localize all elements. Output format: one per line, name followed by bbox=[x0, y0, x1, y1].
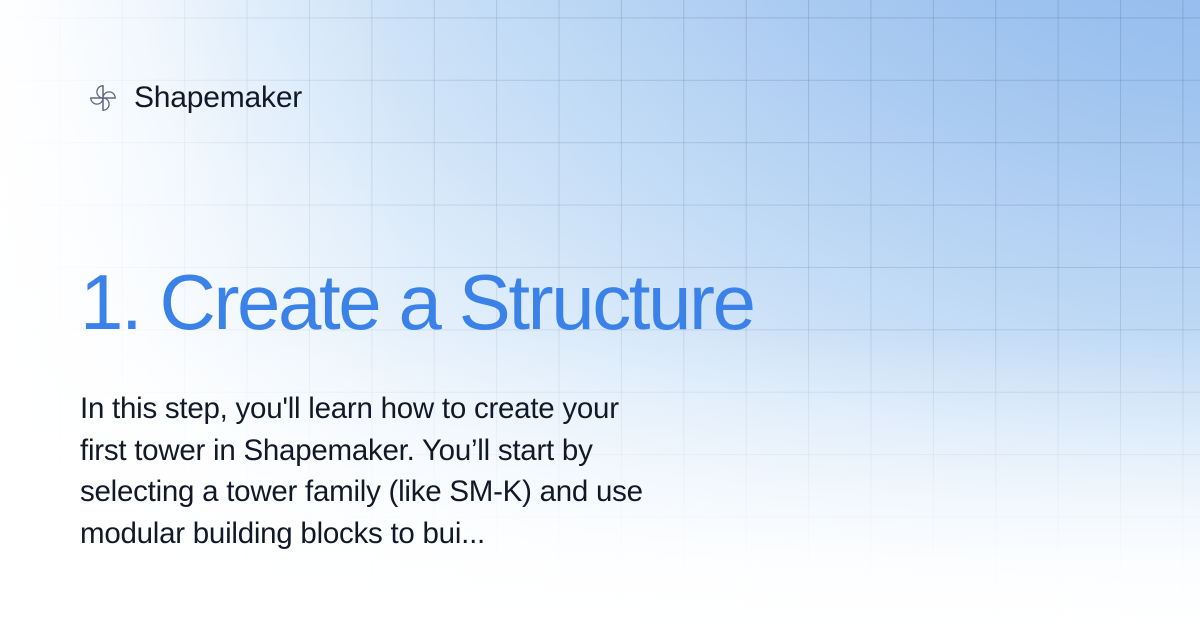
card-content: Shapemaker 1. Create a Structure In this… bbox=[0, 0, 1200, 630]
body-line: first tower in Shapemaker. You’ll start … bbox=[80, 430, 880, 472]
body-line: selecting a tower family (like SM-K) and… bbox=[80, 471, 880, 513]
body-description: In this step, you'll learn how to create… bbox=[80, 388, 880, 554]
share-card: Shapemaker 1. Create a Structure In this… bbox=[0, 0, 1200, 630]
pinwheel-logo-icon bbox=[88, 83, 118, 113]
page-title: 1. Create a Structure bbox=[80, 263, 754, 341]
body-line: In this step, you'll learn how to create… bbox=[80, 388, 880, 430]
brand-lockup[interactable]: Shapemaker bbox=[88, 83, 302, 113]
brand-name: Shapemaker bbox=[134, 83, 302, 113]
body-line: modular building blocks to bui... bbox=[80, 513, 880, 555]
